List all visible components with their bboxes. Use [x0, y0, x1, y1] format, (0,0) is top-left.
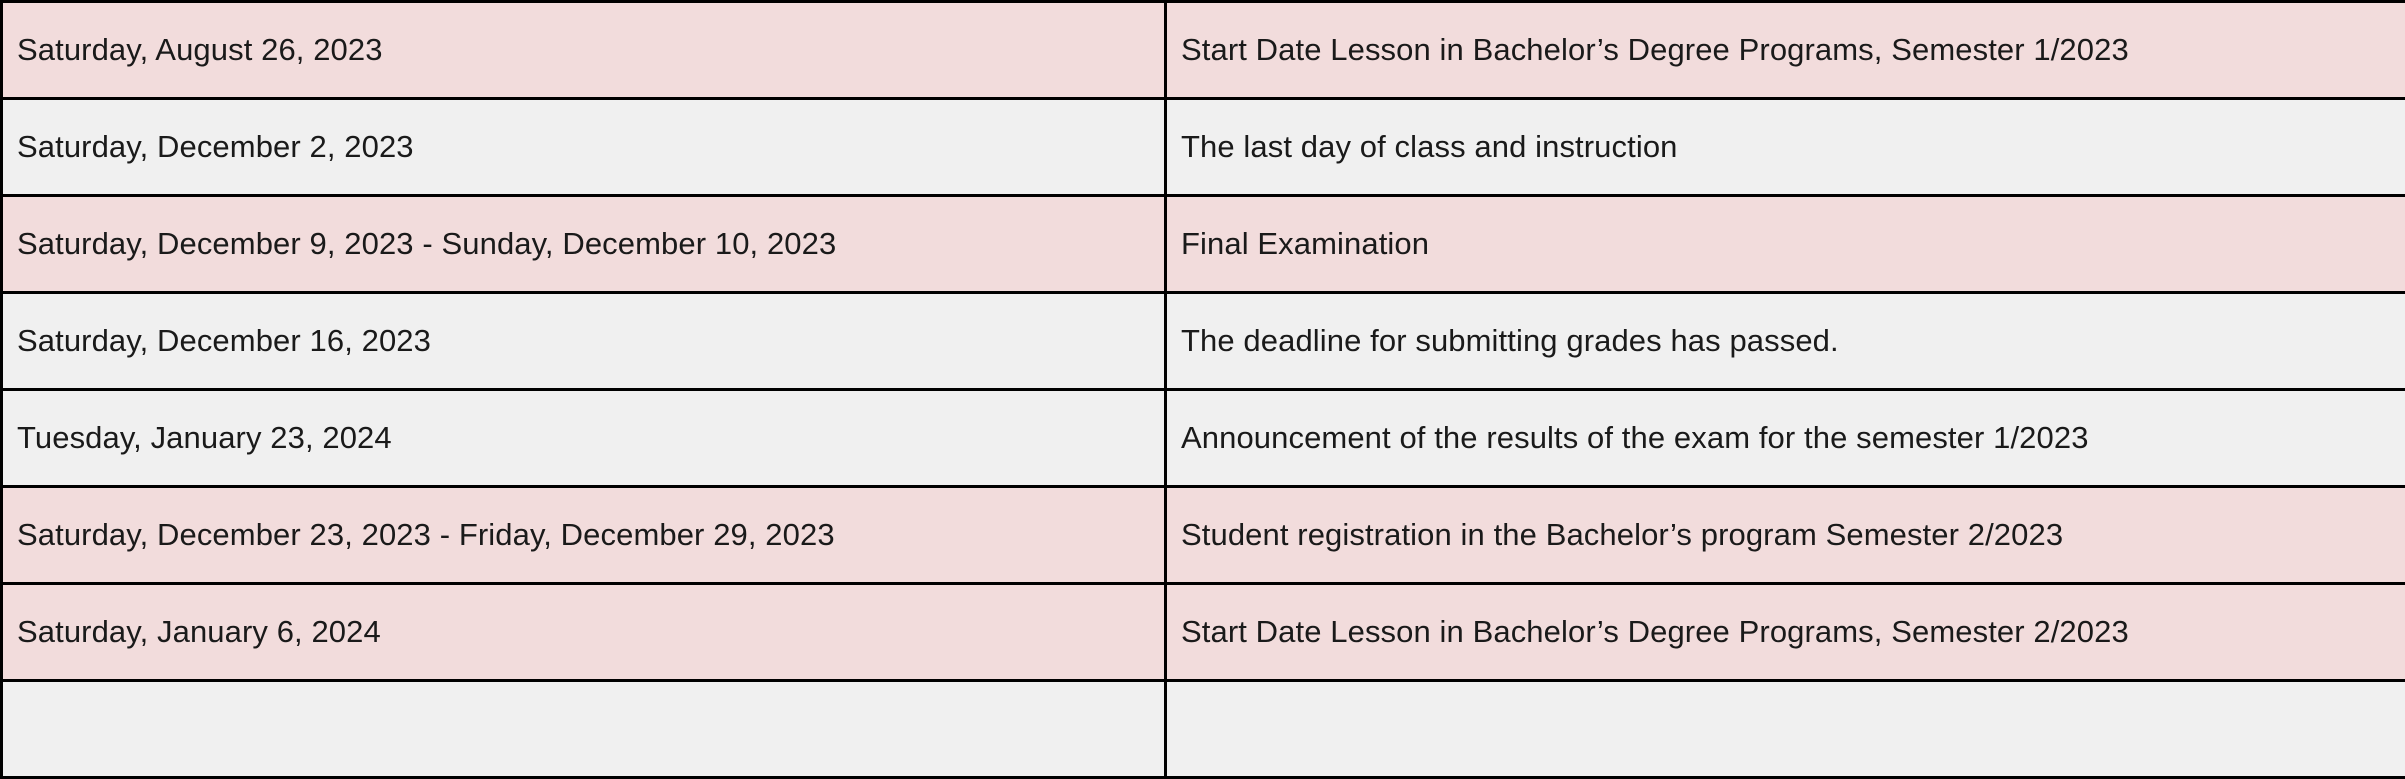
academic-calendar-table: Saturday, August 26, 2023 Start Date Les… — [0, 0, 2405, 779]
cell-date: Saturday, December 23, 2023 - Friday, De… — [2, 487, 1166, 584]
cell-event: Start Date Lesson in Bachelor’s Degree P… — [1166, 584, 2405, 681]
table-row: Saturday, August 26, 2023 Start Date Les… — [2, 2, 2405, 99]
table-row: Saturday, December 9, 2023 - Sunday, Dec… — [2, 196, 2405, 293]
cell-date: Tuesday, January 23, 2024 — [2, 390, 1166, 487]
cell-date: Saturday, August 26, 2023 — [2, 2, 1166, 99]
cell-event: Final Examination — [1166, 196, 2405, 293]
table-row: Saturday, December 16, 2023 The deadline… — [2, 293, 2405, 390]
cell-date: Saturday, December 2, 2023 — [2, 99, 1166, 196]
cell-event: Start Date Lesson in Bachelor’s Degree P… — [1166, 2, 2405, 99]
cell-event: Student registration in the Bachelor’s p… — [1166, 487, 2405, 584]
cell-event: The last day of class and instruction — [1166, 99, 2405, 196]
table-row: Saturday, December 2, 2023 The last day … — [2, 99, 2405, 196]
cell-date: Saturday, December 9, 2023 - Sunday, Dec… — [2, 196, 1166, 293]
cell-date: Saturday, January 6, 2024 — [2, 584, 1166, 681]
table-row: Saturday, January 6, 2024 Start Date Les… — [2, 584, 2405, 681]
table-row: Saturday, December 23, 2023 - Friday, De… — [2, 487, 2405, 584]
table-row: Tuesday, January 23, 2024 Announcement o… — [2, 390, 2405, 487]
cell-event — [1166, 681, 2405, 778]
cell-date — [2, 681, 1166, 778]
table-row-empty — [2, 681, 2405, 778]
cell-date: Saturday, December 16, 2023 — [2, 293, 1166, 390]
cell-event: Announcement of the results of the exam … — [1166, 390, 2405, 487]
cell-event: The deadline for submitting grades has p… — [1166, 293, 2405, 390]
table-body: Saturday, August 26, 2023 Start Date Les… — [2, 2, 2405, 778]
